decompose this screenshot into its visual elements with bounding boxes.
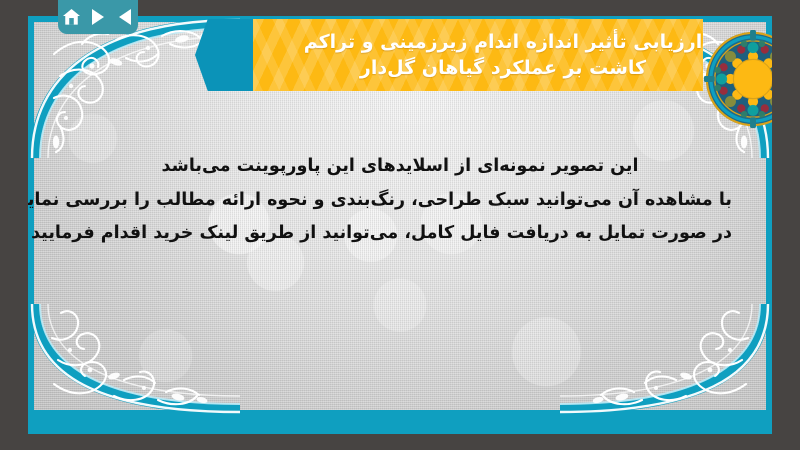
frame-band-bottom [28, 410, 772, 434]
slide-body-line-2: با مشاهده آن می‌توانید سبک طراحی، رنگ‌بن… [68, 184, 732, 218]
slide-body-line-1: این تصویر نمونه‌ای از اسلایدهای این پاور… [68, 150, 732, 184]
slide-body-text: این تصویر نمونه‌ای از اسلایدهای این پاور… [68, 150, 732, 251]
previous-slide-button[interactable] [115, 7, 135, 27]
next-slide-button[interactable] [88, 7, 108, 27]
triangle-left-icon [117, 8, 133, 26]
frame-band-top [28, 16, 772, 22]
slide-navigation-bar [58, 0, 138, 34]
triangle-right-icon [90, 8, 106, 26]
slide-body-line-3: در صورت تمایل به دریافت فایل کامل، می‌تو… [68, 217, 732, 251]
frame-edge-bottom [0, 434, 800, 450]
home-icon [62, 8, 81, 26]
home-button[interactable] [61, 7, 81, 27]
slide-canvas: ارزیابی تأثیر اندازه اندام زیرزمینی و تر… [28, 16, 772, 434]
frame-edge-left [0, 0, 28, 450]
slide-viewer: ارزیابی تأثیر اندازه اندام زیرزمینی و تر… [0, 0, 800, 450]
circular-medallion-ornament-icon [704, 30, 772, 128]
frame-edge-right [772, 0, 800, 450]
